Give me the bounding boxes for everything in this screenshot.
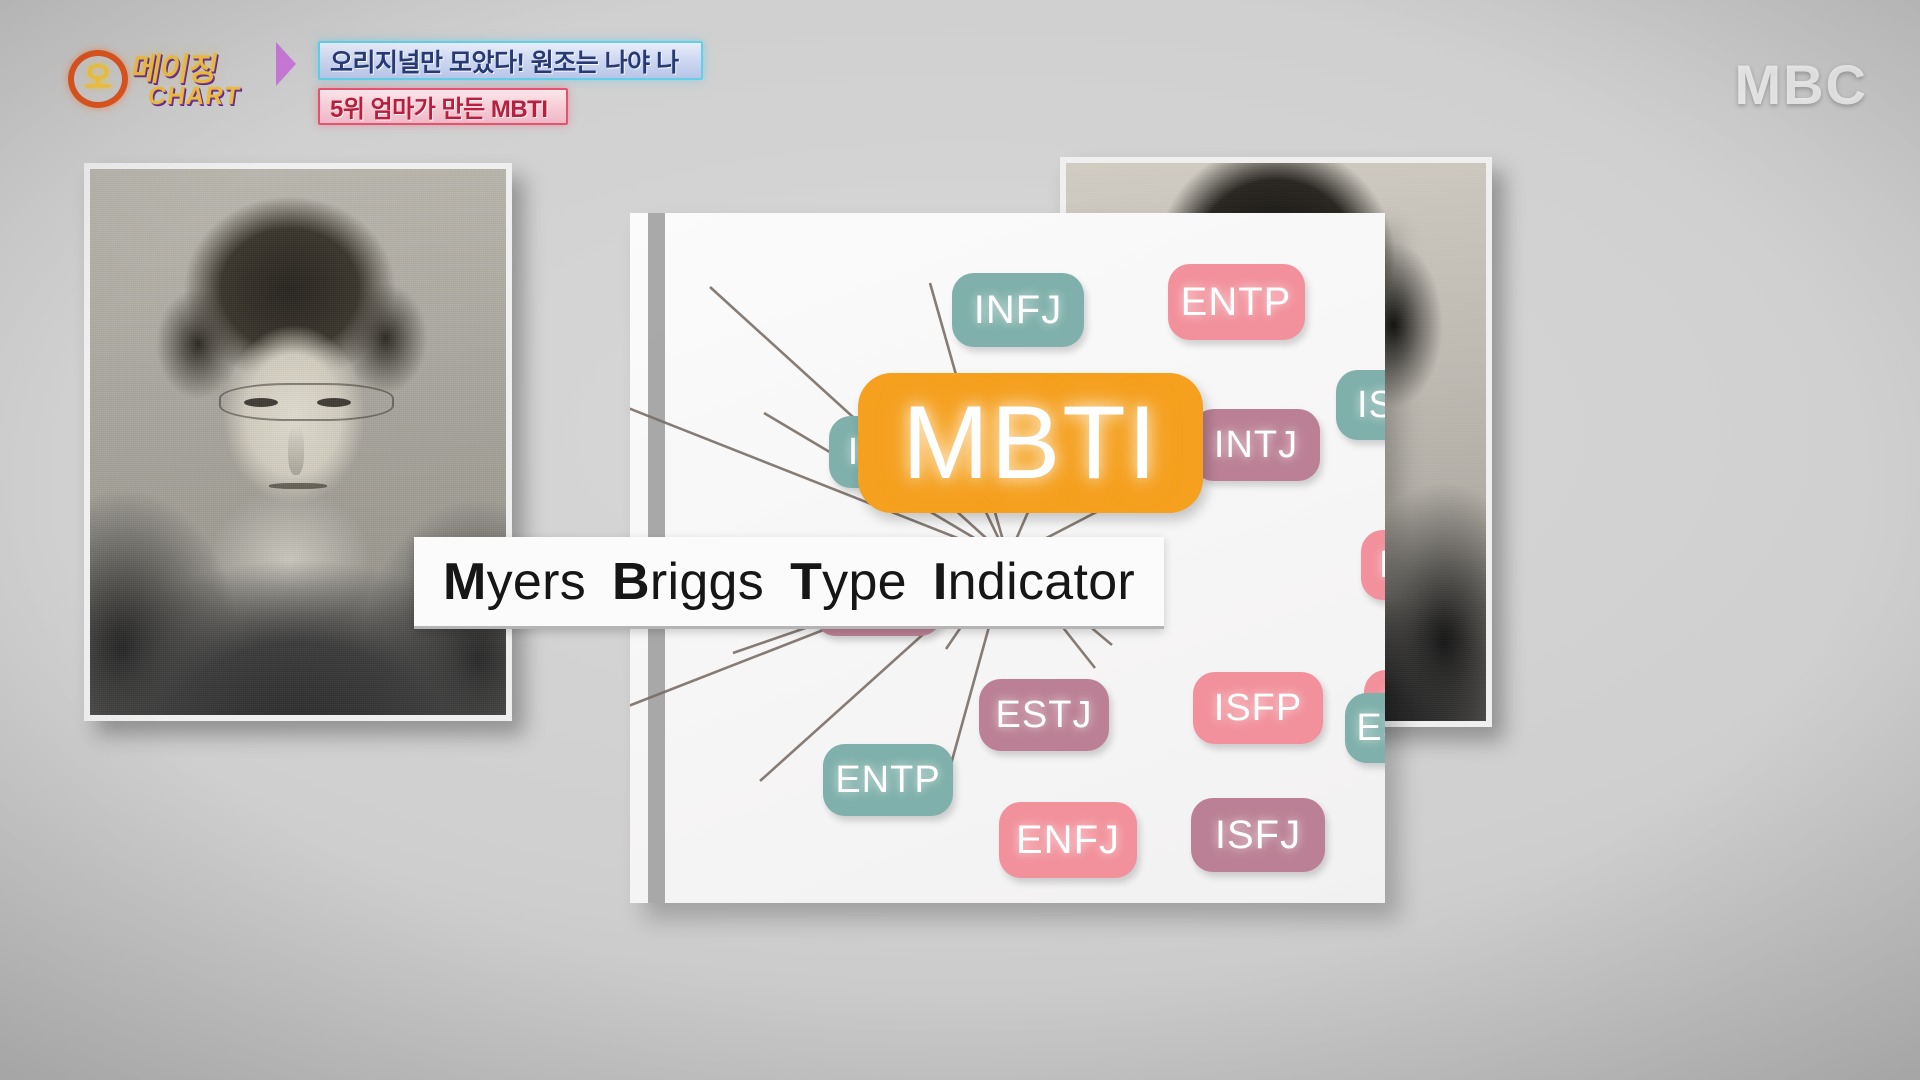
mbti-node-entp-12[interactable]: ENTP bbox=[823, 744, 953, 816]
mbti-node-label: ISFJ bbox=[1215, 813, 1301, 858]
mbti-node-label: INTJ bbox=[1214, 424, 1298, 467]
mbti-node-label: ENTP bbox=[835, 759, 940, 802]
katharine-cook-briggs-portrait bbox=[84, 163, 512, 721]
mbti-node-label: INFJ bbox=[974, 288, 1062, 333]
mbti-node-intj-3[interactable]: INTJ bbox=[1192, 409, 1320, 481]
caption-word-rest: riggs bbox=[650, 553, 764, 611]
mbti-expansion-caption: MyersBriggsTypeIndicator bbox=[414, 537, 1164, 629]
mbti-node-estj-9[interactable]: ESTJ bbox=[979, 679, 1109, 751]
mbti-node-label: ISTJ bbox=[1357, 384, 1385, 427]
mbti-center-node[interactable]: MBTI bbox=[858, 373, 1203, 513]
mbti-node-isfp-10[interactable]: ISFP bbox=[1193, 672, 1323, 744]
mbti-node-entp-1[interactable]: ENTP bbox=[1168, 264, 1305, 340]
caption-initial: M bbox=[443, 553, 487, 611]
caption-initial: I bbox=[933, 553, 948, 611]
mbti-node-estp-11[interactable]: ESTP bbox=[1345, 693, 1385, 763]
mbti-node-infj-0[interactable]: INFJ bbox=[952, 273, 1084, 347]
logo-mark: 오 bbox=[80, 60, 116, 98]
mbti-node-isfj-14[interactable]: ISFJ bbox=[1191, 798, 1325, 872]
portrait-artwork-left bbox=[90, 169, 506, 715]
caption-word-rest: ndicator bbox=[948, 553, 1135, 611]
mbti-node-enfj-13[interactable]: ENFJ bbox=[999, 802, 1137, 878]
subheadline-banner-text: 5위 엄마가 만든 MBTI bbox=[330, 89, 547, 124]
mbti-node-label: ISTP bbox=[1379, 544, 1385, 587]
mbti-node-istj-4[interactable]: ISTJ bbox=[1336, 370, 1386, 440]
caption-word-rest: yers bbox=[487, 553, 586, 611]
mbti-node-label: ISFP bbox=[1214, 687, 1302, 730]
caption-text: MyersBriggsTypeIndicator bbox=[443, 552, 1135, 612]
caption-initial: B bbox=[612, 553, 650, 611]
headline-banner-text: 오리지널만 모았다! 원조는 나야 나 bbox=[330, 43, 679, 79]
mbti-node-label: ESTP bbox=[1356, 707, 1385, 750]
mbti-node-label: ENTP bbox=[1181, 280, 1292, 325]
broadcast-stage: INFJENTPENTJINTJISTJINTPISTPINFPISTPESTJ… bbox=[0, 0, 1920, 1080]
logo-subtitle: CHART bbox=[146, 82, 243, 111]
program-logo: 오 메이징 CHART bbox=[62, 22, 262, 108]
photo-inner-left bbox=[90, 169, 506, 715]
subheadline-banner: 5위 엄마가 만든 MBTI bbox=[318, 88, 568, 125]
caption-word-rest: ype bbox=[822, 553, 907, 611]
caption-initial: T bbox=[790, 553, 822, 611]
mbc-channel-watermark: MBC bbox=[1734, 52, 1868, 117]
mbti-node-istp-6[interactable]: ISTP bbox=[1361, 530, 1386, 600]
logo-chevron-icon bbox=[276, 42, 296, 86]
mbti-node-label: ESTJ bbox=[996, 694, 1093, 737]
film-grain-overlay bbox=[90, 169, 506, 715]
mbti-node-label: ENFJ bbox=[1016, 818, 1120, 863]
headline-banner: 오리지널만 모았다! 원조는 나야 나 bbox=[318, 41, 703, 80]
